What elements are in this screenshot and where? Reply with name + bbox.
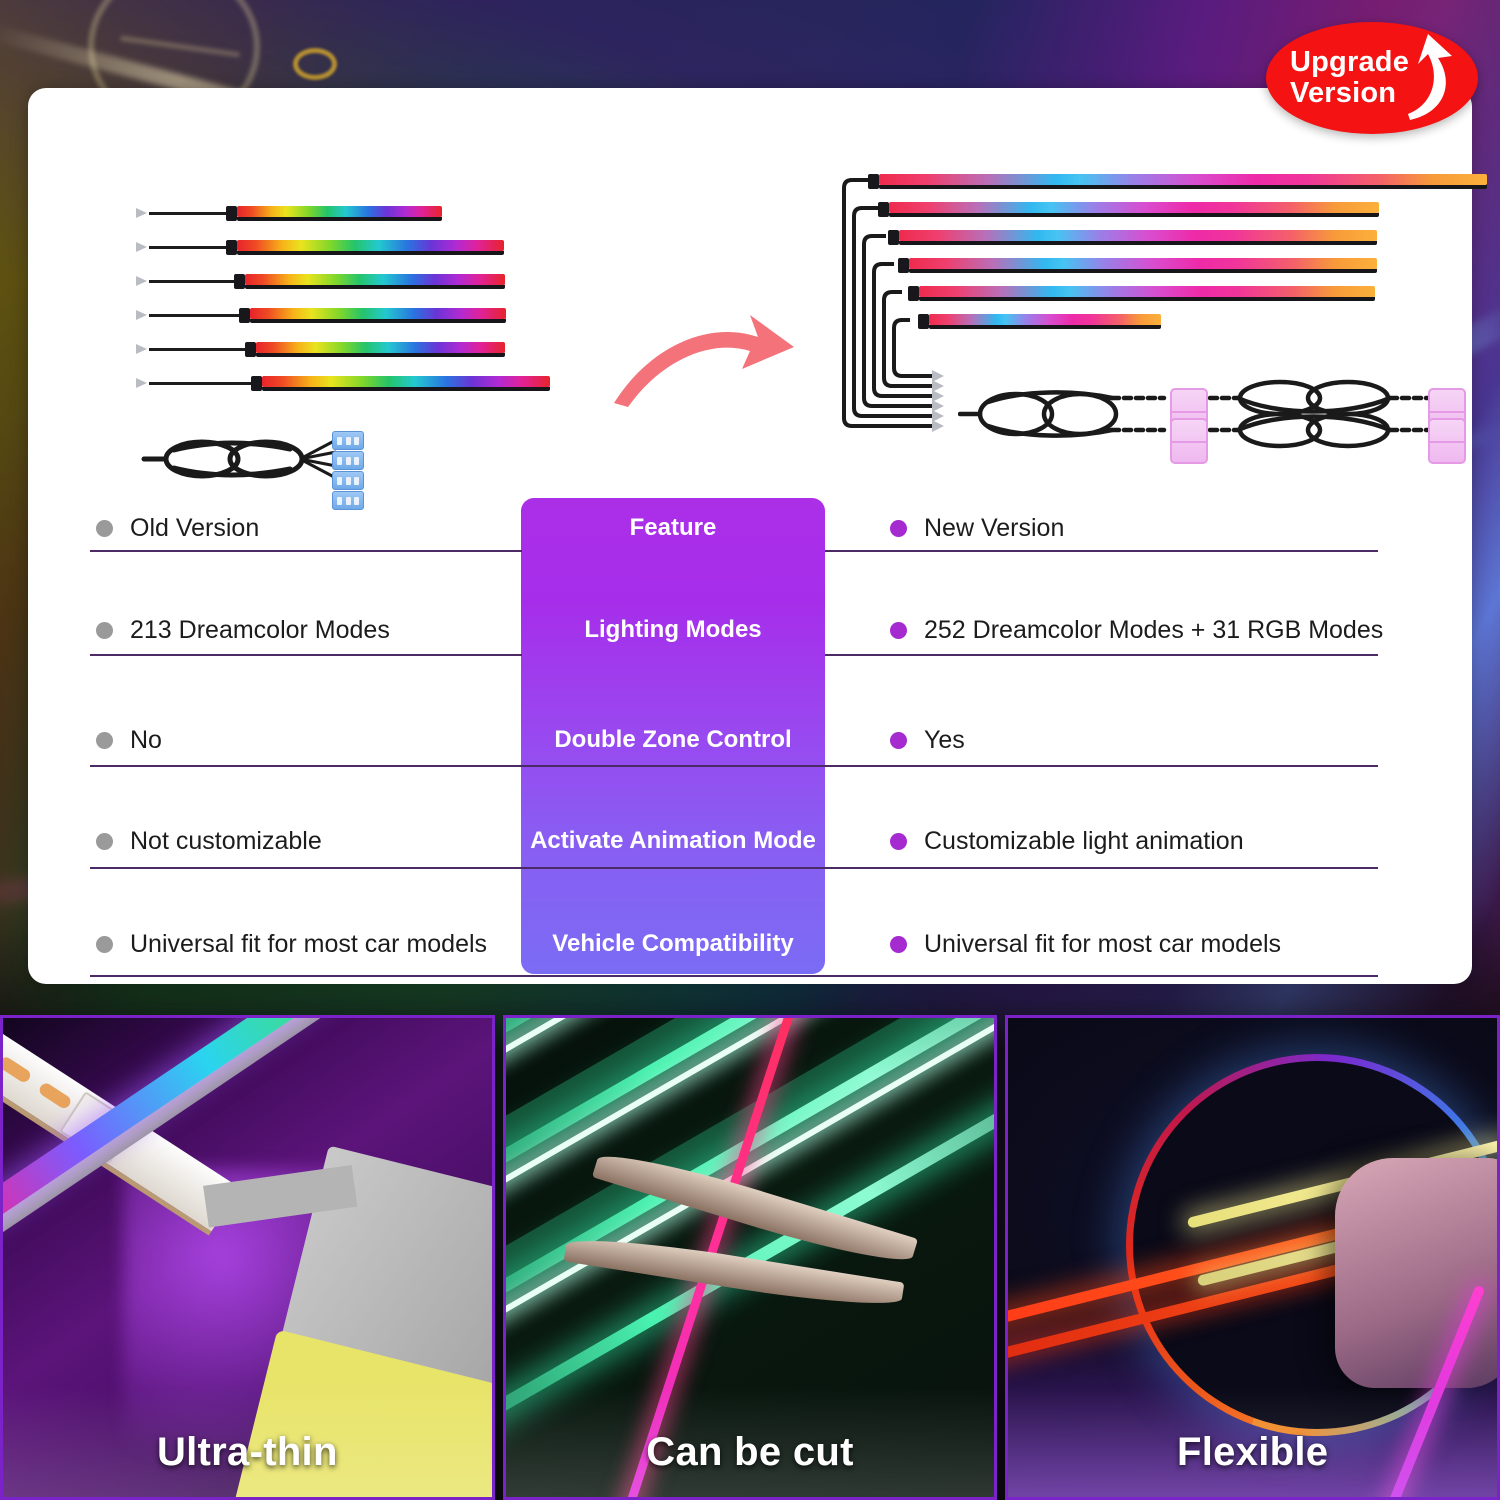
connector-plug-icon bbox=[136, 241, 149, 254]
gauge-ring-shape bbox=[293, 48, 337, 80]
badge-line-1: Upgrade bbox=[1290, 47, 1409, 78]
led-strip bbox=[909, 258, 1377, 273]
table-row: Universal fit for most car models bbox=[890, 930, 1281, 959]
bullet-icon bbox=[96, 936, 113, 953]
feature-photo-panels: Ultra-thin Can be cut bbox=[0, 1015, 1500, 1500]
curved-right-arrow-icon bbox=[608, 303, 798, 413]
power-cable-bundle bbox=[140, 433, 360, 485]
bullet-icon bbox=[890, 833, 907, 850]
connector-plug-icon bbox=[136, 207, 149, 220]
jst-connector-icon bbox=[332, 451, 364, 470]
table-row: Customizable light animation bbox=[890, 827, 1244, 856]
old-value: 213 Dreamcolor Modes bbox=[130, 616, 390, 645]
feature-label: Vehicle Compatibility bbox=[521, 930, 825, 958]
hand-holding-strip bbox=[1335, 1158, 1500, 1388]
led-strip bbox=[889, 202, 1379, 217]
bullet-icon bbox=[890, 732, 907, 749]
product-infographic: Old Version Feature New Version 213 Drea… bbox=[0, 0, 1500, 1500]
led-strip bbox=[919, 286, 1375, 301]
new-value: Universal fit for most car models bbox=[924, 930, 1281, 959]
table-row: Universal fit for most car models bbox=[96, 930, 487, 959]
extension-cable-bundle-long bbox=[1208, 368, 1458, 460]
new-value: 252 Dreamcolor Modes + 31 RGB Modes bbox=[924, 616, 1383, 645]
table-row: 252 Dreamcolor Modes + 31 RGB Modes bbox=[890, 616, 1383, 645]
bullet-icon bbox=[96, 622, 113, 639]
product-illustration bbox=[28, 88, 1472, 488]
feature-label: Lighting Modes bbox=[521, 616, 825, 644]
led-strip bbox=[262, 376, 550, 391]
bullet-icon bbox=[96, 833, 113, 850]
led-strip bbox=[250, 308, 506, 323]
table-row: Not customizable bbox=[96, 827, 322, 856]
curved-up-arrow-icon bbox=[1394, 32, 1464, 124]
led-strip bbox=[245, 274, 505, 289]
row-divider bbox=[90, 975, 1378, 977]
badge-text: Upgrade Version bbox=[1266, 47, 1409, 110]
panel-caption: Ultra-thin bbox=[3, 1430, 492, 1475]
row-divider bbox=[90, 765, 1378, 767]
led-strip bbox=[237, 240, 504, 255]
panel-caption: Can be cut bbox=[506, 1430, 995, 1475]
connector-block-icon bbox=[1170, 418, 1208, 464]
table-row: No bbox=[96, 726, 162, 755]
badge-line-2: Version bbox=[1290, 78, 1409, 109]
new-version-label: New Version bbox=[924, 514, 1064, 543]
table-row: New Version bbox=[890, 514, 1064, 543]
bullet-icon bbox=[890, 520, 907, 537]
table-row: 213 Dreamcolor Modes bbox=[96, 616, 390, 645]
led-strip bbox=[237, 206, 442, 221]
panel-caption: Flexible bbox=[1008, 1430, 1497, 1475]
row-divider bbox=[90, 654, 522, 656]
led-strip bbox=[929, 314, 1161, 329]
feature-label: Activate Animation Mode bbox=[521, 827, 825, 855]
row-divider bbox=[90, 867, 1378, 869]
connector-plug-icon bbox=[136, 275, 149, 288]
connector-plug-icon bbox=[136, 343, 149, 356]
new-value: Customizable light animation bbox=[924, 827, 1244, 856]
new-value: Yes bbox=[924, 726, 965, 755]
jst-connector-icon bbox=[332, 431, 364, 450]
row-divider bbox=[825, 550, 1378, 552]
panel-can-be-cut: Can be cut bbox=[503, 1015, 998, 1500]
panel-ultra-thin: Ultra-thin bbox=[0, 1015, 495, 1500]
connector-plug-icon bbox=[136, 309, 149, 322]
bullet-icon bbox=[890, 622, 907, 639]
comparison-table: Old Version Feature New Version 213 Drea… bbox=[28, 488, 1472, 984]
led-strip bbox=[879, 174, 1487, 189]
connector-plug-icon bbox=[136, 377, 149, 390]
table-row: Yes bbox=[890, 726, 965, 755]
bullet-icon bbox=[96, 520, 113, 537]
connector-block-icon bbox=[1428, 418, 1466, 464]
led-strip bbox=[899, 230, 1377, 245]
row-divider bbox=[90, 550, 522, 552]
feature-label: Double Zone Control bbox=[521, 726, 825, 754]
old-version-label: Old Version bbox=[130, 514, 259, 543]
row-divider bbox=[825, 654, 1378, 656]
old-value: No bbox=[130, 726, 162, 755]
upgrade-version-badge: Upgrade Version bbox=[1266, 22, 1478, 134]
panel-flexible: Flexible bbox=[1005, 1015, 1500, 1500]
bullet-icon bbox=[890, 936, 907, 953]
bullet-icon bbox=[96, 732, 113, 749]
led-strip bbox=[256, 342, 505, 357]
old-value: Universal fit for most car models bbox=[130, 930, 487, 959]
extension-cable-bundle bbox=[958, 368, 1188, 460]
feature-header: Feature bbox=[521, 514, 825, 542]
table-row: Old Version bbox=[96, 514, 259, 543]
old-value: Not customizable bbox=[130, 827, 322, 856]
